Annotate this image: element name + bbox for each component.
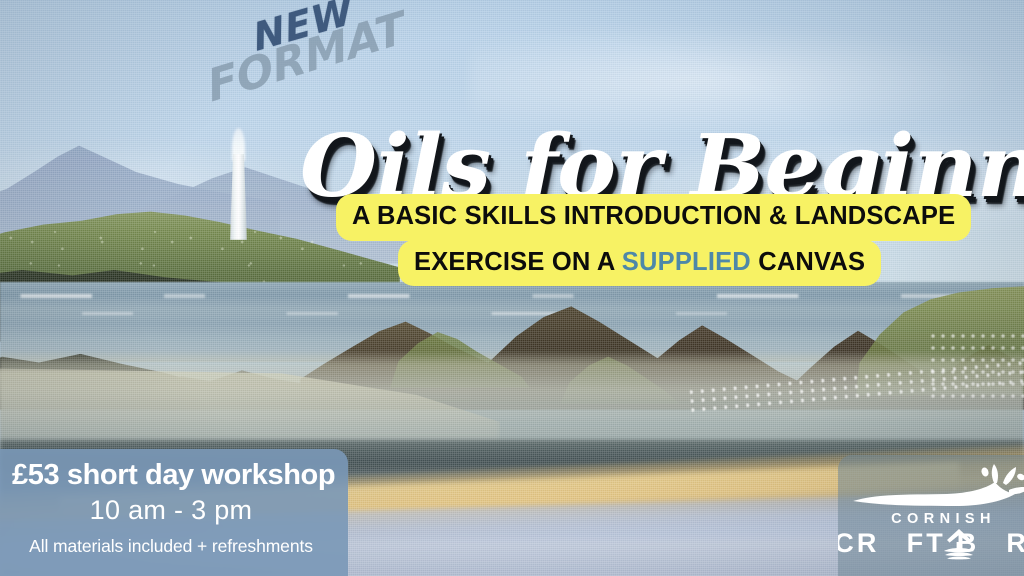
subtitle-block: A BASIC SKILLS INTRODUCTION & LANDSCAPE … xyxy=(336,194,976,286)
logo-word-rn: RN xyxy=(1006,528,1024,559)
subtitle-line-1: A BASIC SKILLS INTRODUCTION & LANDSCAPE xyxy=(336,194,971,241)
logo-word-cr: CR xyxy=(838,528,880,559)
logo-word-ft: FT xyxy=(907,528,946,559)
lighthouse-tower xyxy=(230,154,247,240)
lighthouse-icon xyxy=(225,128,251,240)
price-line: £53 short day workshop xyxy=(12,460,330,490)
poster-canvas: FORMAT NEW Oils for Beginners A BASIC SK… xyxy=(0,0,1024,576)
extras-line: All materials included + refreshments xyxy=(12,536,330,557)
subtitle-accent-supplied: SUPPLIED xyxy=(622,248,751,276)
barn-icon xyxy=(942,526,976,560)
brand-logo-panel: CORNISH CRFT BRN xyxy=(838,455,1024,576)
workshop-info-panel: £53 short day workshop 10 am - 3 pm All … xyxy=(0,449,348,576)
logo-top-word: CORNISH xyxy=(886,511,996,527)
wave-splash-icon xyxy=(851,463,1024,515)
foam-line xyxy=(930,330,1024,400)
logo-bottom-word: CRFT BRN xyxy=(838,528,1024,559)
time-line: 10 am - 3 pm xyxy=(12,492,330,528)
subtitle-line-2-after: CANVAS xyxy=(751,248,865,276)
subtitle-line-2-before: EXERCISE ON A xyxy=(414,248,622,276)
subtitle-line-2: EXERCISE ON A SUPPLIED CANVAS xyxy=(398,240,881,287)
